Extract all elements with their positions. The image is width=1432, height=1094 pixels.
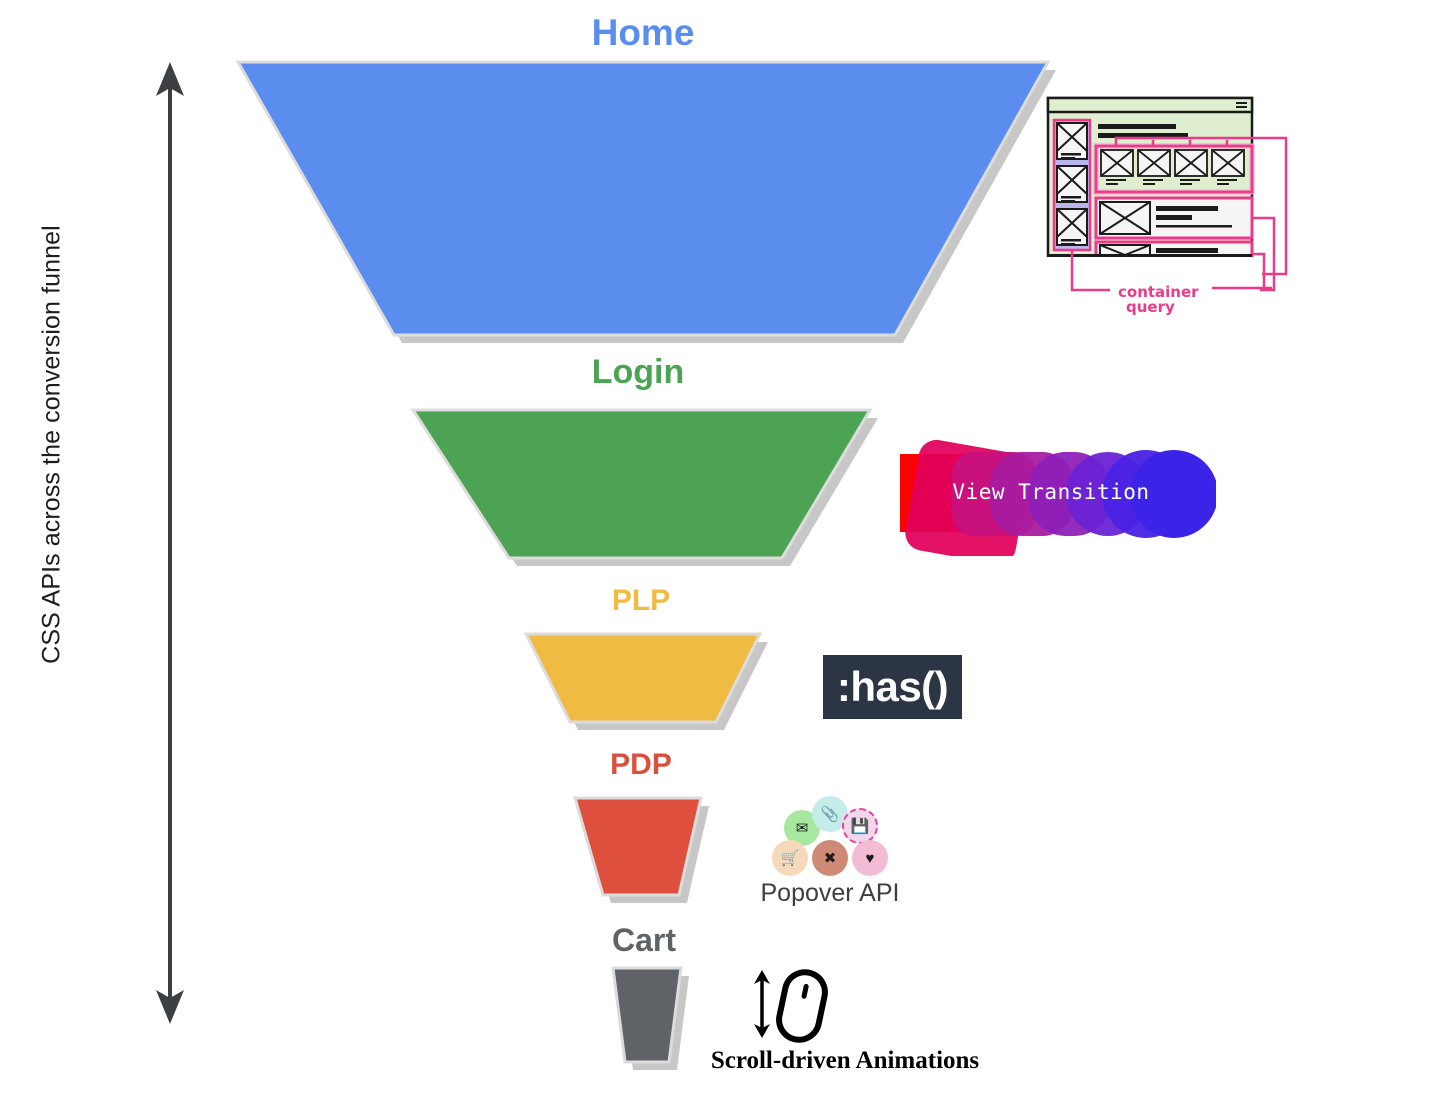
stage-label-pdp: PDP: [441, 750, 841, 780]
container-query-wireframe: container query: [1036, 94, 1304, 334]
close-x-icon[interactable]: ✖: [812, 840, 848, 876]
stage-label-plp: PLP: [441, 586, 841, 616]
popover-api-label: Popover API: [700, 879, 960, 908]
shopping-cart-icon[interactable]: 🛒: [772, 840, 808, 876]
heart-icon[interactable]: ♥: [852, 840, 888, 876]
mouse-with-vertical-scroll-arrow-icon: [746, 968, 840, 1046]
stage-label-cart: Cart: [444, 924, 844, 956]
funnel-diagram-canvas: CSS APIs across the conversion funnel Ho…: [0, 0, 1432, 1094]
axis-label: CSS APIs across the conversion funnel: [38, 125, 67, 765]
stage-label-home: Home: [443, 14, 843, 51]
floppy-disk-icon[interactable]: 💾: [842, 808, 878, 844]
vertical-axis-arrow: [152, 62, 188, 1024]
popover-api-icon-cluster: ✉ 📎 💾 🛒 ✖ ♥: [772, 796, 888, 872]
funnel-segment-plp[interactable]: [518, 626, 770, 738]
stage-label-login: Login: [438, 355, 838, 389]
view-transition-illustration: [886, 432, 1216, 556]
scroll-driven-animations-label: Scroll-driven Animations: [610, 1047, 1080, 1075]
funnel-segment-home[interactable]: [230, 54, 1060, 354]
container-query-caption-line2: query: [1126, 298, 1175, 316]
funnel-segment-pdp[interactable]: [566, 790, 716, 910]
has-selector-badge: :has(): [823, 655, 962, 719]
funnel-segment-login[interactable]: [405, 402, 885, 574]
